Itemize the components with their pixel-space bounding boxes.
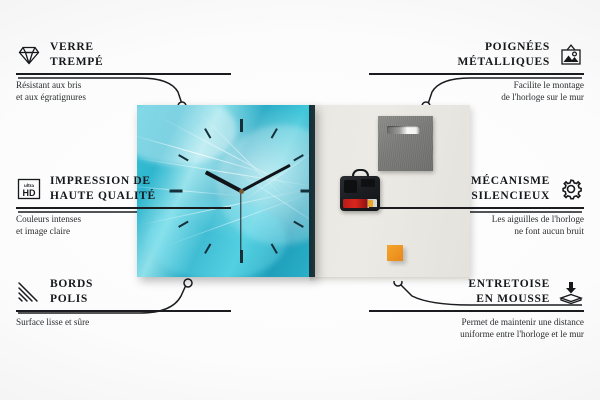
callout-poignees: POIGNÉES MÉTALLIQUES Facilite le montage… <box>369 40 584 104</box>
callout-title-line2: POLIS <box>50 293 88 305</box>
callout-title-line1: POIGNÉES <box>485 41 550 53</box>
clock-minute-hand <box>240 164 290 192</box>
callout-sub-line2: et aux égratignures <box>16 92 86 102</box>
callout-sub-line2: de l'horloge sur le mur <box>501 92 584 102</box>
diamond-icon <box>16 43 42 67</box>
callout-sub-line1: Surface lisse et sûre <box>16 317 89 327</box>
callout-entretoise: ENTRETOISE EN MOUSSE Permet de maintenir… <box>369 277 584 341</box>
callout-rule <box>369 73 584 74</box>
callout-title-line2: HAUTE QUALITÉ <box>50 190 156 202</box>
callout-sub-line1: Facilite le montage <box>514 80 584 90</box>
gear-icon <box>558 177 584 201</box>
callout-title-line2: SILENCIEUX <box>471 190 550 202</box>
svg-text:HD: HD <box>23 188 36 198</box>
callout-title-line1: MÉCANISME <box>471 175 550 187</box>
polished-edge-icon <box>16 280 42 304</box>
metal-hanger-plate <box>378 116 433 171</box>
clock-panel-edge <box>309 105 315 277</box>
callout-impression: ultra HD IMPRESSION DE HAUTE QUALITÉ Cou… <box>16 174 231 238</box>
callout-sub-line2: et image claire <box>16 226 70 236</box>
picture-hanger-icon <box>558 43 584 67</box>
ultra-hd-icon: ultra HD <box>16 177 42 201</box>
callout-title-line2: TREMPÉ <box>50 56 103 68</box>
callout-rule <box>369 310 584 311</box>
callout-verre-trempe: VERRE TREMPÉ Résistant aux bris et aux é… <box>16 40 231 104</box>
callout-rule <box>16 207 231 208</box>
callout-title-line1: IMPRESSION DE <box>50 175 151 187</box>
callout-title-line2: EN MOUSSE <box>476 293 550 305</box>
callout-mecanisme: MÉCANISME SILENCIEUX Les aiguilles de l'… <box>369 174 584 238</box>
callout-rule <box>16 310 231 311</box>
foam-spacer-arrow-icon <box>558 280 584 304</box>
clock-center-pin <box>239 189 244 194</box>
callout-sub-line1: Couleurs intenses <box>16 214 81 224</box>
callout-sub-line2: ne font aucun bruit <box>514 226 584 236</box>
callout-rule <box>369 207 584 208</box>
infographic-canvas: VERRE TREMPÉ Résistant aux bris et aux é… <box>0 0 600 400</box>
callout-title-line1: VERRE <box>50 41 94 53</box>
callout-sub-line1: Permet de maintenir une distance <box>462 317 584 327</box>
clock-second-hand <box>240 191 241 253</box>
foam-spacer <box>387 245 403 261</box>
callout-rule <box>16 73 231 74</box>
hanger-keyhole-slot <box>387 126 420 134</box>
callout-title-line1: BORDS <box>50 278 93 290</box>
callout-sub-line1: Résistant aux bris <box>16 80 81 90</box>
callout-bords-polis: BORDS POLIS Surface lisse et sûre <box>16 277 231 328</box>
callout-sub-line2: uniforme entre l'horloge et le mur <box>460 329 584 339</box>
callout-title-line2: MÉTALLIQUES <box>458 56 550 68</box>
callout-sub-line1: Les aiguilles de l'horloge <box>492 214 584 224</box>
callout-title-line1: ENTRETOISE <box>468 278 550 290</box>
mechanism-detail-left <box>344 180 357 193</box>
